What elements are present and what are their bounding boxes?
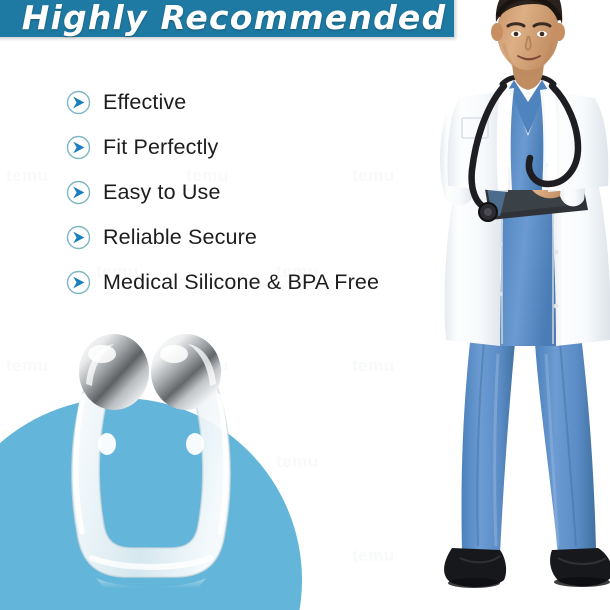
watermark-text: temu <box>6 356 49 376</box>
list-item-label: Effective <box>103 90 186 115</box>
list-item-label: Medical Silicone & BPA Free <box>103 270 379 295</box>
list-item: Fit Perfectly <box>66 125 466 169</box>
circled-arrow-icon <box>66 270 91 295</box>
page-title: Highly Recommended <box>14 0 454 42</box>
doctor-image <box>438 0 610 610</box>
list-item: Easy to Use <box>66 170 466 214</box>
list-item: Reliable Secure <box>66 215 466 259</box>
circled-arrow-icon <box>66 180 91 205</box>
watermark-text: temu <box>6 166 49 186</box>
watermark-text: temu <box>352 356 395 376</box>
watermark-text: temu <box>276 452 319 472</box>
product-image <box>52 326 248 588</box>
feature-list: Effective Fit Perfectly Easy to Use <box>66 80 466 305</box>
list-item-label: Fit Perfectly <box>103 135 218 160</box>
list-item-label: Reliable Secure <box>103 225 257 250</box>
circled-arrow-icon <box>66 135 91 160</box>
list-item: Effective <box>66 80 466 124</box>
circled-arrow-icon <box>66 225 91 250</box>
list-item: Medical Silicone & BPA Free <box>66 260 466 304</box>
circled-arrow-icon <box>66 90 91 115</box>
list-item-label: Easy to Use <box>103 180 221 205</box>
watermark-text: temu <box>352 546 395 566</box>
product-advertisement: temutemutemutemutemutemutemutemutemutemu… <box>0 0 610 610</box>
